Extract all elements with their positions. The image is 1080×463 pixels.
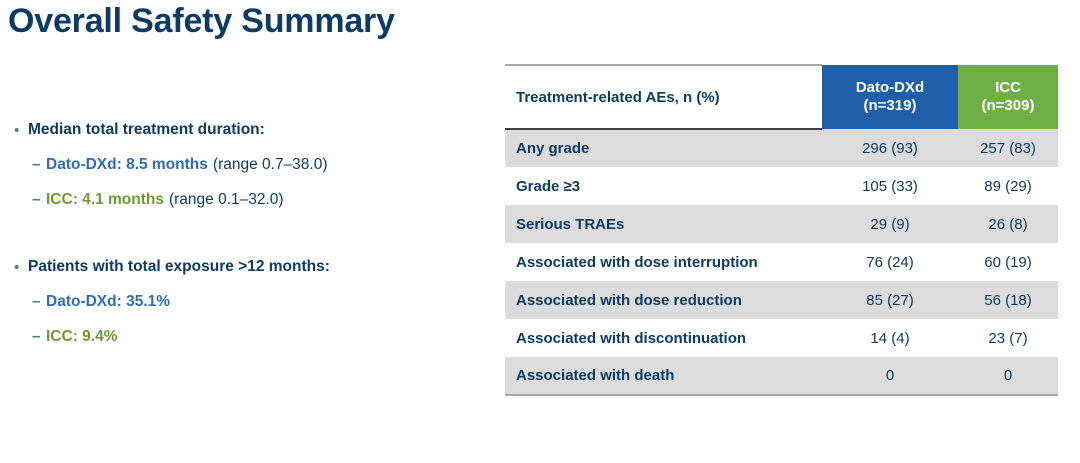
column-header-dato-dxd-name: Dato-DXd bbox=[856, 79, 924, 96]
table-cell-dato-dxd-value: 296 (93) bbox=[822, 129, 958, 167]
bullet-item: •Median total treatment duration: bbox=[14, 122, 494, 138]
table-cell-dato-dxd-value: 85 (27) bbox=[822, 281, 958, 319]
column-header-icc-name: ICC bbox=[995, 79, 1021, 96]
bullet-item-label: Median total treatment duration: bbox=[28, 122, 265, 138]
adverse-events-table: Treatment-related AEs, n (%) Dato-DXd (n… bbox=[505, 64, 1058, 396]
bullet-sub-item-label: Dato-DXd: 8.5 months bbox=[46, 157, 208, 173]
bullet-sub-item-label: Dato-DXd: 35.1% bbox=[46, 294, 170, 310]
bullet-sub-item: –ICC: 4.1 months(range 0.1–32.0) bbox=[32, 192, 494, 208]
table-row: Grade ≥3105 (33)89 (29) bbox=[505, 167, 1058, 205]
bullet-sub-item: –Dato-DXd: 35.1% bbox=[32, 294, 494, 310]
table-row: Any grade296 (93)257 (83) bbox=[505, 129, 1058, 167]
bullet-sub-item: –ICC: 9.4% bbox=[32, 329, 494, 345]
table-cell-ae-label: Associated with dose interruption bbox=[505, 243, 822, 281]
table-row: Serious TRAEs29 (9)26 (8) bbox=[505, 205, 1058, 243]
table-cell-icc-value: 257 (83) bbox=[958, 129, 1058, 167]
bullet-item-label: Patients with total exposure >12 months: bbox=[28, 259, 330, 275]
table-row: Associated with discontinuation14 (4)23 … bbox=[505, 319, 1058, 357]
bullet-point-icon: • bbox=[14, 122, 28, 138]
table-cell-dato-dxd-value: 76 (24) bbox=[822, 243, 958, 281]
bullet-sub-item-detail: (range 0.1–32.0) bbox=[169, 192, 284, 208]
column-header-dato-dxd: Dato-DXd (n=319) bbox=[822, 65, 958, 129]
dash-icon: – bbox=[32, 157, 46, 173]
dash-icon: – bbox=[32, 192, 46, 208]
bullet-sub-item-label: ICC: 9.4% bbox=[46, 329, 118, 345]
column-header-dato-dxd-count: (n=319) bbox=[822, 97, 958, 115]
bullet-item: •Patients with total exposure >12 months… bbox=[14, 259, 494, 275]
table-cell-ae-label: Associated with death bbox=[505, 357, 822, 395]
bullet-sub-item: –Dato-DXd: 8.5 months(range 0.7–38.0) bbox=[32, 157, 494, 173]
table-row: Associated with dose reduction85 (27)56 … bbox=[505, 281, 1058, 319]
bullet-list: •Median total treatment duration:–Dato-D… bbox=[14, 122, 494, 344]
page-title: Overall Safety Summary bbox=[8, 2, 395, 41]
table-cell-icc-value: 60 (19) bbox=[958, 243, 1058, 281]
table-header: Treatment-related AEs, n (%) Dato-DXd (n… bbox=[505, 65, 1058, 129]
bullet-sub-item-label: ICC: 4.1 months bbox=[46, 192, 164, 208]
table-row: Associated with death00 bbox=[505, 357, 1058, 395]
table-cell-dato-dxd-value: 29 (9) bbox=[822, 205, 958, 243]
table-cell-icc-value: 0 bbox=[958, 357, 1058, 395]
table-cell-ae-label: Grade ≥3 bbox=[505, 167, 822, 205]
table-cell-icc-value: 56 (18) bbox=[958, 281, 1058, 319]
bullet-point-icon: • bbox=[14, 259, 28, 275]
table-cell-ae-label: Any grade bbox=[505, 129, 822, 167]
table-cell-icc-value: 26 (8) bbox=[958, 205, 1058, 243]
dash-icon: – bbox=[32, 294, 46, 310]
table-cell-icc-value: 89 (29) bbox=[958, 167, 1058, 205]
table-row: Associated with dose interruption76 (24)… bbox=[505, 243, 1058, 281]
table-cell-dato-dxd-value: 14 (4) bbox=[822, 319, 958, 357]
bullet-sub-item-detail: (range 0.7–38.0) bbox=[213, 157, 328, 173]
adverse-events-table-container: Treatment-related AEs, n (%) Dato-DXd (n… bbox=[505, 64, 1058, 396]
column-header-icc-count: (n=309) bbox=[958, 97, 1058, 115]
table-cell-icc-value: 23 (7) bbox=[958, 319, 1058, 357]
bullet-group: •Median total treatment duration:–Dato-D… bbox=[14, 122, 494, 207]
column-header-icc: ICC (n=309) bbox=[958, 65, 1058, 129]
table-cell-dato-dxd-value: 105 (33) bbox=[822, 167, 958, 205]
table-body: Any grade296 (93)257 (83)Grade ≥3105 (33… bbox=[505, 129, 1058, 395]
table-cell-dato-dxd-value: 0 bbox=[822, 357, 958, 395]
table-cell-ae-label: Associated with dose reduction bbox=[505, 281, 822, 319]
bullet-group: •Patients with total exposure >12 months… bbox=[14, 259, 494, 344]
table-header-row: Treatment-related AEs, n (%) Dato-DXd (n… bbox=[505, 65, 1058, 129]
table-cell-ae-label: Associated with discontinuation bbox=[505, 319, 822, 357]
table-cell-ae-label: Serious TRAEs bbox=[505, 205, 822, 243]
column-header-ae-label: Treatment-related AEs, n (%) bbox=[505, 65, 822, 129]
dash-icon: – bbox=[32, 329, 46, 345]
